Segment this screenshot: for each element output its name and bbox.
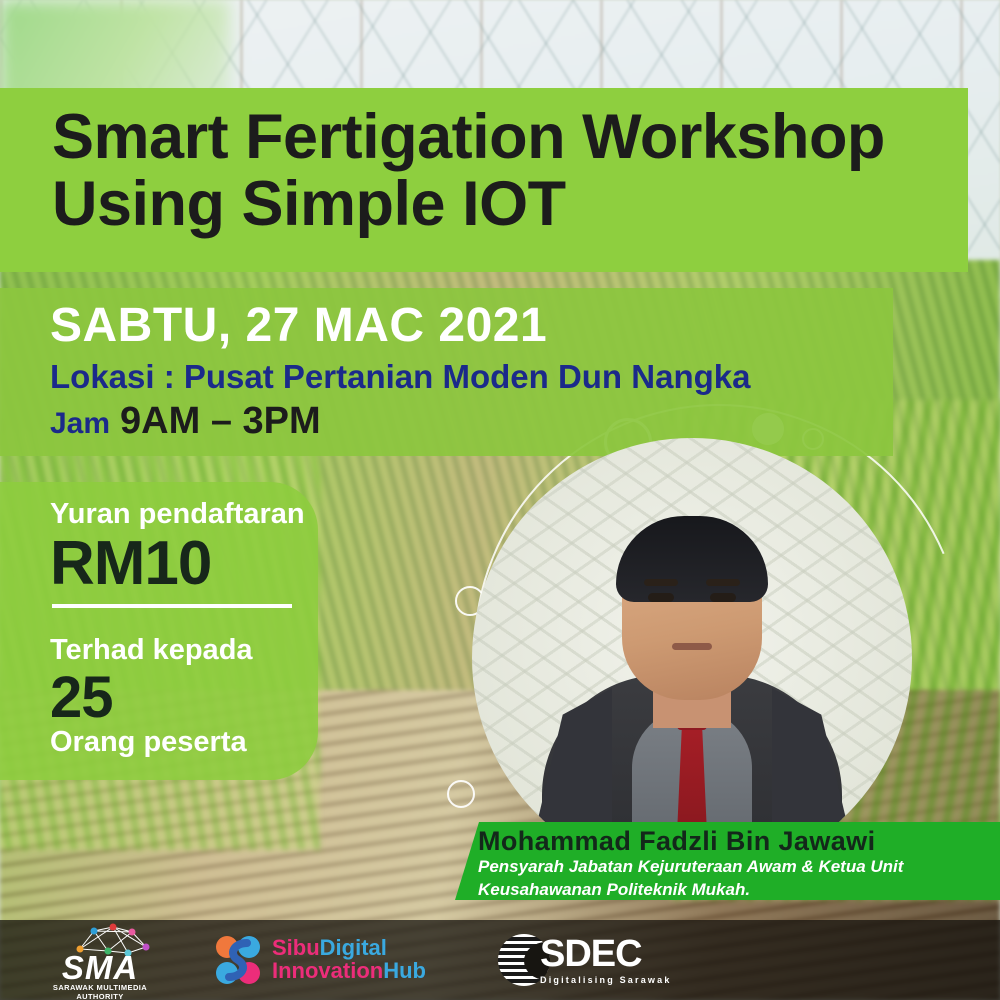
event-time: Jam9AM – 3PM	[50, 400, 321, 443]
limit-label: Terhad kepada	[50, 634, 253, 667]
fee-amount: RM10	[50, 528, 211, 599]
time-label: Jam	[50, 407, 110, 440]
sdih-line-1: SibuDigital	[272, 937, 426, 960]
sdec-logo: SDEC Digitalising Sarawak	[498, 929, 688, 991]
limit-number: 25	[50, 664, 113, 731]
sdih-word-innovation: Innovation	[272, 958, 383, 983]
sdec-tagline: Digitalising Sarawak	[540, 975, 672, 985]
fee-label: Yuran pendaftaran	[50, 498, 305, 531]
sma-logo: SMA SARAWAK MULTIMEDIA AUTHORITY	[40, 925, 160, 995]
eye-left	[648, 593, 674, 602]
speaker-name: Mohammad Fadzli Bin Jawawi	[478, 826, 998, 857]
sdih-word-sibu: Sibu	[272, 935, 320, 960]
event-date: SABTU, 27 MAC 2021	[50, 298, 547, 353]
page-title: Smart Fertigation Workshop Using Simple …	[52, 104, 972, 239]
event-location: Lokasi : Pusat Pertanian Moden Dun Nangk…	[50, 358, 750, 396]
sma-wordmark: SMA	[40, 951, 160, 984]
title-line-2: Using Simple IOT	[52, 171, 972, 238]
sma-tagline: SARAWAK MULTIMEDIA AUTHORITY	[40, 983, 160, 1000]
fee-divider	[52, 604, 292, 608]
sdec-wordmark-group: SDEC Digitalising Sarawak	[540, 935, 672, 985]
sibu-digital-wordmark: SibuDigital InnovationHub	[272, 937, 426, 983]
limit-unit: Orang peserta	[50, 726, 247, 759]
title-line-1: Smart Fertigation Workshop	[52, 104, 972, 171]
decorative-circle-outline-bottom-left	[447, 780, 475, 808]
time-value: 9AM – 3PM	[120, 400, 321, 442]
speaker-role: Pensyarah Jabatan Kejuruteraan Awam & Ke…	[478, 856, 948, 902]
eyebrow-left	[644, 579, 678, 586]
event-poster: Smart Fertigation Workshop Using Simple …	[0, 0, 1000, 1000]
logo-row: SMA SARAWAK MULTIMEDIA AUTHORITY SibuDig…	[0, 920, 1000, 1000]
eye-right	[710, 593, 736, 602]
sdih-word-hub: Hub	[383, 958, 426, 983]
speaker-portrait	[472, 438, 912, 878]
eyebrow-right	[706, 579, 740, 586]
interlocking-s-icon	[214, 934, 262, 986]
mouth	[672, 643, 712, 650]
sibu-digital-innovation-hub-logo: SibuDigital InnovationHub	[214, 929, 444, 991]
sdec-wordmark: SDEC	[540, 935, 672, 973]
sdih-word-digital: Digital	[320, 935, 387, 960]
sdih-line-2: InnovationHub	[272, 960, 426, 983]
hair-shape	[616, 516, 768, 602]
